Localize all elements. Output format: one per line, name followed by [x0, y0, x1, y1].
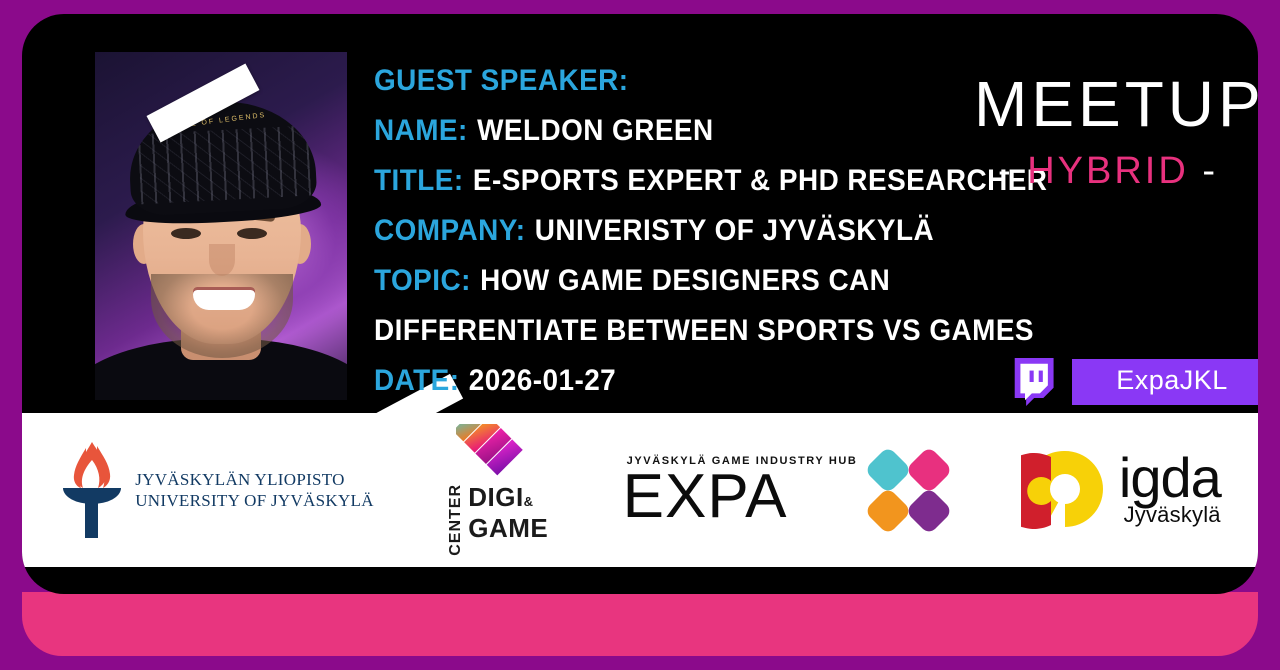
topic-label: TOPIC: — [374, 264, 471, 297]
expa-dot-pink — [905, 445, 953, 493]
guest-speaker-label: GUEST SPEAKER: — [374, 64, 629, 97]
torch-icon — [59, 442, 125, 538]
title-value: E-SPORTS EXPERT & PHD RESEARCHER — [464, 164, 1048, 197]
name-label: NAME: — [374, 114, 468, 147]
jyu-line-fi: JYVÄSKYLÄN YLIOPISTO — [135, 469, 374, 490]
game-text: GAME — [468, 515, 548, 541]
speaker-info-block: GUEST SPEAKER: NAME:WELDON GREEN TITLE:E… — [374, 56, 954, 406]
sponsor-igda-jyvaskyla: igda Jyväskylä — [1021, 447, 1221, 533]
jyu-line-en: UNIVERSITY OF JYVÄSKYLÄ — [135, 490, 374, 511]
expa-texts: JYVÄSKYLÄ GAME INDUSTRY HUB EXPA — [623, 455, 858, 526]
event-poster: LEAGUE OF LEGENDS GUEST SPEAKER: NAME:WE… — [0, 0, 1280, 670]
expa-wordmark: EXPA — [623, 468, 858, 526]
ampersand: & — [524, 494, 534, 509]
company-value: UNIVERISTY OF JYVÄSKYLÄ — [525, 214, 934, 247]
sponsor-center-digi-and-game: CENTER DIGI& GAME — [448, 424, 548, 556]
bottom-pink-bar — [22, 592, 1258, 656]
meetup-title: MEETUP — [974, 68, 1242, 140]
poster-card: LEAGUE OF LEGENDS GUEST SPEAKER: NAME:WE… — [22, 14, 1258, 594]
meetup-badge: MEETUP - HYBRID - — [974, 68, 1242, 192]
portrait-eye-left — [171, 228, 201, 239]
title-label: TITLE: — [374, 164, 464, 197]
guest-speaker-heading: GUEST SPEAKER: — [374, 56, 913, 106]
expa-dot-purple — [905, 486, 953, 534]
flame-icon — [71, 442, 113, 488]
igda-texts: igda Jyväskylä — [1119, 452, 1221, 528]
igda-city: Jyväskylä — [1124, 502, 1221, 528]
portrait-eye-right — [237, 228, 267, 239]
twitch-icon[interactable] — [1010, 358, 1056, 406]
digi-text-row: DIGI& — [468, 484, 548, 515]
portrait-mouth — [193, 290, 255, 310]
digi-game-wordmark: CENTER DIGI& GAME — [448, 484, 548, 556]
torch-stem — [85, 502, 98, 538]
igda-mark-icon — [1021, 447, 1109, 533]
speaker-topic-row: TOPIC:HOW GAME DESIGNERS CAN — [374, 256, 913, 306]
date-value: 2026-01-27 — [460, 364, 617, 397]
meetup-mode-row: - HYBRID - — [974, 150, 1242, 192]
expa-diamond-dots — [871, 453, 946, 528]
speaker-name-row: NAME:WELDON GREEN — [374, 106, 913, 156]
digi-text: DIGI — [468, 482, 523, 512]
dash-right: - — [1202, 150, 1218, 192]
speaker-company-row: COMPANY:UNIVERISTY OF JYVÄSKYLÄ — [374, 206, 913, 256]
sponsor-expa: JYVÄSKYLÄ GAME INDUSTRY HUB EXPA — [623, 453, 947, 528]
speaker-topic-row-2: DIFFERENTIATE BETWEEN SPORTS VS GAMES — [374, 306, 913, 356]
sponsor-logo-strip: JYVÄSKYLÄN YLIOPISTO UNIVERSITY OF JYVÄS… — [22, 413, 1258, 567]
twitch-channel-row[interactable]: ExpaJKL — [1010, 358, 1258, 406]
twitch-channel-name[interactable]: ExpaJKL — [1072, 359, 1258, 405]
expa-dot-orange — [864, 486, 912, 534]
company-label: COMPANY: — [374, 214, 525, 247]
date-label: DATE: — [374, 364, 460, 397]
speaker-photo: LEAGUE OF LEGENDS — [95, 52, 347, 400]
name-value: WELDON GREEN — [468, 114, 714, 147]
igda-wordmark: igda — [1119, 452, 1221, 504]
portrait-nose — [209, 244, 235, 276]
topic-value-line2: DIFFERENTIATE BETWEEN SPORTS VS GAMES — [374, 314, 1034, 347]
meetup-mode: HYBRID — [1027, 150, 1189, 192]
jyu-wordmark: JYVÄSKYLÄN YLIOPISTO UNIVERSITY OF JYVÄS… — [135, 469, 374, 511]
digi-game-center-text: CENTER — [448, 484, 464, 556]
topic-value-line1: HOW GAME DESIGNERS CAN — [471, 264, 890, 297]
speaker-title-row: TITLE:E-SPORTS EXPERT & PHD RESEARCHER — [374, 156, 913, 206]
expa-dot-teal — [864, 445, 912, 493]
digi-game-diamond-icon — [456, 424, 540, 480]
speaker-date-row: DATE:2026-01-27 — [374, 356, 913, 406]
dash-left: - — [998, 150, 1014, 192]
sponsor-university-of-jyvaskyla: JYVÄSKYLÄN YLIOPISTO UNIVERSITY OF JYVÄS… — [59, 442, 374, 538]
